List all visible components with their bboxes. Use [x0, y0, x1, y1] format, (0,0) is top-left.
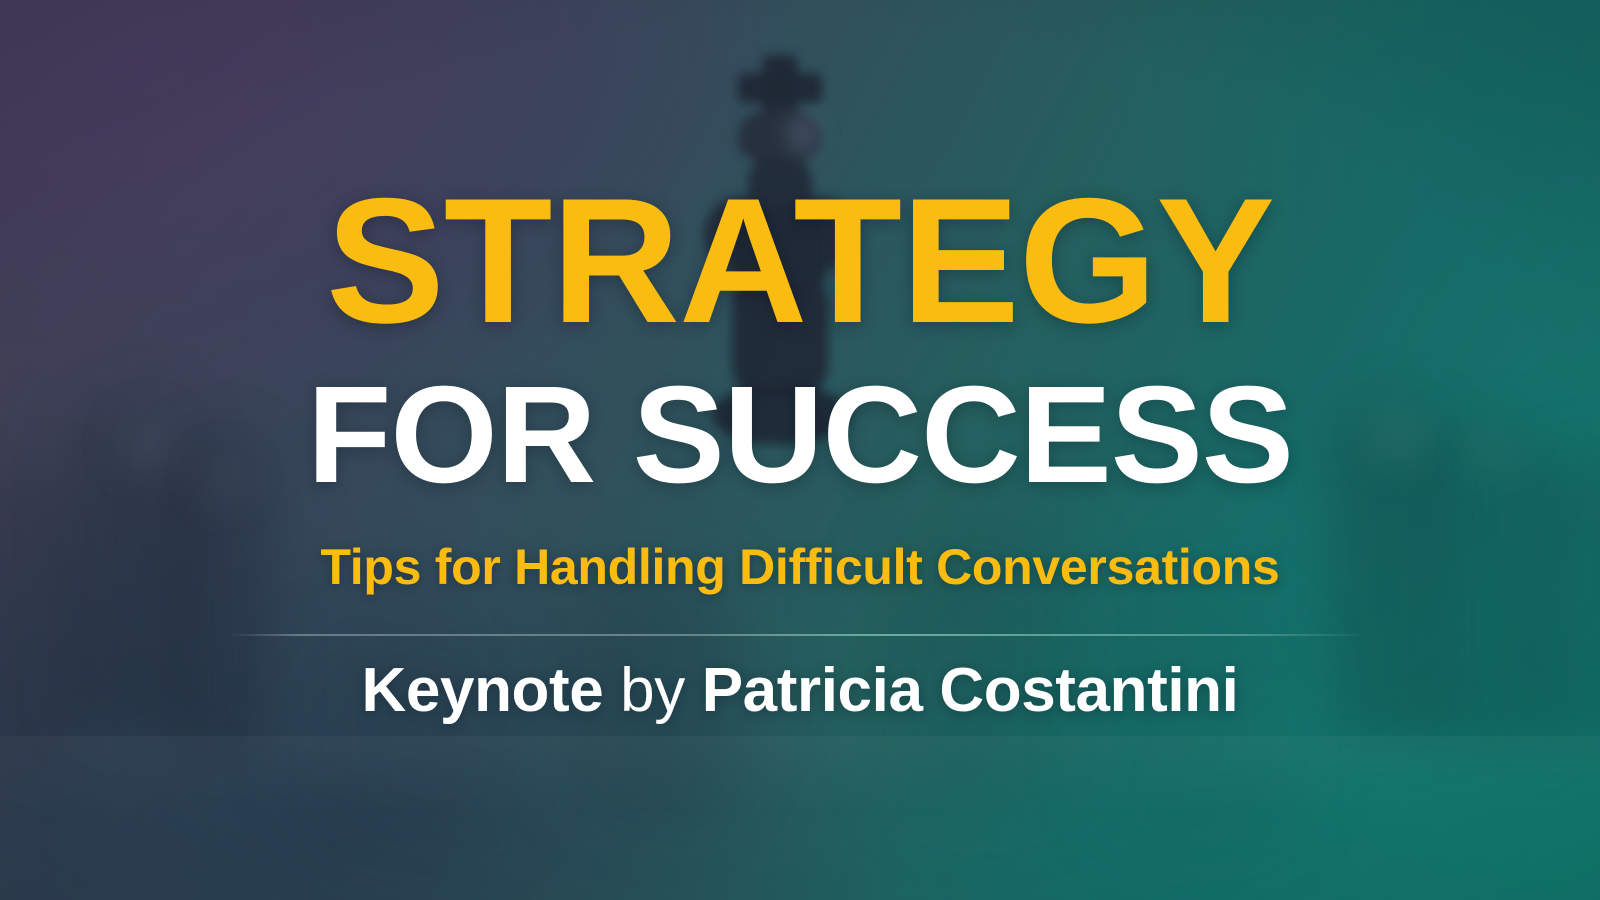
- speaker-byline: Keynote by Patricia Costantini: [0, 658, 1600, 723]
- title-block: STRATEGY FOR SUCCESS Tips for Handling D…: [0, 178, 1600, 723]
- tagline: Tips for Handling Difficult Conversation…: [0, 538, 1600, 596]
- headline-secondary: FOR SUCCESS: [0, 366, 1600, 504]
- keynote-title-slide: STRATEGY FOR SUCCESS Tips for Handling D…: [0, 0, 1600, 900]
- byline-connector: by: [603, 656, 701, 725]
- byline-role: Keynote: [362, 656, 604, 725]
- headline-primary: STRATEGY: [0, 178, 1600, 344]
- section-divider: [230, 634, 1370, 636]
- byline-speaker-name: Patricia Costantini: [702, 656, 1239, 725]
